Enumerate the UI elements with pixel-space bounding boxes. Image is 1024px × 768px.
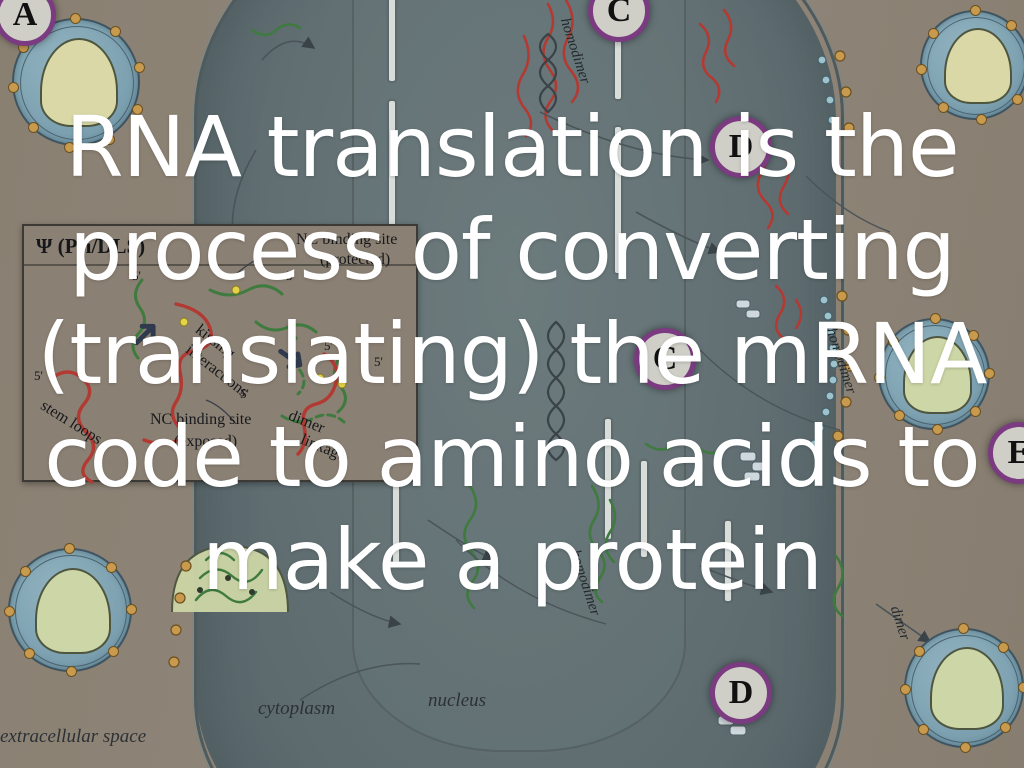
- headline-line-3: (translating) the mRNA: [0, 303, 1024, 406]
- headline-line-4: code to amino acids to: [0, 406, 1024, 509]
- label-cytoplasm: cytoplasm: [258, 698, 335, 720]
- label-extracellular-space: extracellular space: [0, 726, 146, 748]
- headline-line-1: RNA translation is the: [0, 96, 1024, 199]
- slide-headline: RNA translation is the process of conver…: [0, 96, 1024, 613]
- label-nucleus: nucleus: [428, 690, 486, 712]
- headline-line-5: make a protein: [0, 509, 1024, 612]
- headline-line-2: process of converting: [0, 199, 1024, 302]
- step-marker-d-lower: D: [710, 662, 772, 724]
- presentation-slide: extracellular space cytoplasm nucleus ho…: [0, 0, 1024, 768]
